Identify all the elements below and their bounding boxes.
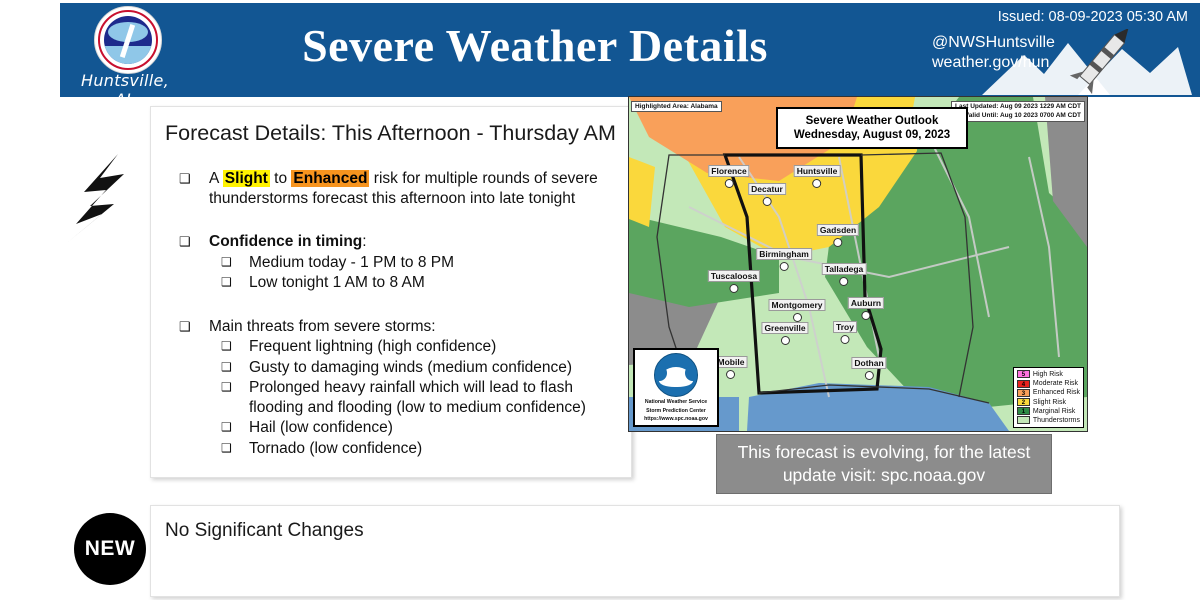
map-title-box: Severe Weather Outlook Wednesday, August…: [776, 107, 968, 149]
bullet-marker-icon: ❑: [165, 358, 249, 378]
bullet-marker-icon: ❑: [165, 273, 249, 293]
list-item: ❑ Gusty to damaging winds (medium confid…: [165, 358, 621, 378]
changes-panel: No Significant Changes: [150, 505, 1120, 597]
nws-logo: Huntsville, AL: [70, 5, 180, 97]
lightning-bolt-icon: [62, 152, 132, 244]
confidence-colon: :: [362, 233, 366, 250]
risk-legend: 5High Risk4Moderate Risk3Enhanced Risk2S…: [1013, 367, 1084, 428]
list-item: ❑ Tornado (low confidence): [165, 439, 621, 459]
list-item: ❑ Prolonged heavy rainfall which will le…: [165, 378, 621, 417]
city-name: Birmingham: [756, 248, 812, 260]
city-name: Auburn: [848, 297, 884, 309]
page-title: Severe Weather Details: [210, 19, 860, 72]
list-item: ❑ Low tonight 1 AM to 8 AM: [165, 273, 621, 293]
city-name: Troy: [833, 321, 857, 333]
legend-row: 5High Risk: [1017, 370, 1080, 379]
city-marker-icon: [763, 197, 772, 206]
map-caption: This forecast is evolving, for the lates…: [716, 434, 1052, 494]
bullet-marker-icon: ❑: [165, 169, 209, 208]
city-name: Dothan: [851, 357, 886, 369]
confidence-item: Medium today - 1 PM to 8 PM: [249, 253, 454, 273]
office-city-label: Huntsville, AL: [70, 71, 180, 109]
risk-pre: A: [209, 170, 223, 187]
city-marker-icon: [865, 371, 874, 380]
city-marker-icon: [840, 335, 849, 344]
list-item: ❑ Hail (low confidence): [165, 418, 621, 438]
legend-label: Enhanced Risk: [1033, 389, 1080, 396]
city-label: Huntsville: [794, 165, 841, 177]
city-name: Tuscaloosa: [708, 270, 760, 282]
city-name: Talladega: [822, 263, 867, 275]
threats-heading: Main threats from severe storms:: [209, 317, 436, 337]
threat-item: Hail (low confidence): [249, 418, 393, 438]
city-label: Birmingham: [756, 248, 812, 260]
city-marker-icon: [839, 277, 848, 286]
legend-color-chip: 5: [1017, 370, 1030, 378]
map-title-line2: Wednesday, August 09, 2023: [782, 128, 962, 142]
city-name: Florence: [708, 165, 749, 177]
risk-mid: to: [270, 170, 292, 187]
legend-label: High Risk: [1033, 371, 1063, 378]
city-marker-icon: [780, 336, 789, 345]
risk-line: A Slight to Enhanced risk for multiple r…: [209, 169, 621, 208]
page-header: Huntsville, AL Severe Weather Details Is…: [60, 3, 1200, 97]
noaa-spc-logo: National Weather Service Storm Predictio…: [633, 348, 719, 427]
new-badge: NEW: [74, 513, 146, 585]
city-marker-icon: [725, 179, 734, 188]
legend-label: Marginal Risk: [1033, 408, 1075, 415]
social-handle: @NWSHuntsville: [932, 33, 1055, 53]
contact-block: @NWSHuntsville weather.gov/hun: [932, 33, 1055, 73]
legend-row: 1Marginal Risk: [1017, 407, 1080, 416]
city-label: Decatur: [748, 183, 786, 195]
city-label: Montgomery: [769, 299, 826, 311]
city-label: Tuscaloosa: [708, 270, 760, 282]
bullet-marker-icon: ❑: [165, 317, 209, 337]
legend-color-chip: [1017, 416, 1030, 424]
legend-color-chip: 3: [1017, 389, 1030, 397]
threat-item: Gusty to damaging winds (medium confiden…: [249, 358, 572, 378]
website-url: weather.gov/hun: [932, 53, 1055, 73]
confidence-heading: Confidence in timing: [209, 233, 362, 250]
legend-label: Thunderstorms: [1033, 417, 1080, 424]
legend-row: 3Enhanced Risk: [1017, 388, 1080, 397]
city-label: Gadsden: [817, 224, 859, 236]
city-marker-icon: [726, 370, 735, 379]
severe-weather-outlook-map[interactable]: Highlighted Area: Alabama Last Updated: …: [628, 96, 1088, 432]
city-label: Dothan: [851, 357, 886, 369]
bullet-marker-icon: ❑: [165, 337, 249, 357]
threat-item: Frequent lightning (high confidence): [249, 337, 496, 357]
changes-text: No Significant Changes: [165, 520, 364, 542]
slight-highlight: Slight: [223, 170, 270, 187]
bullet-threats: ❑ Main threats from severe storms:: [165, 317, 621, 337]
legend-row: 2Slight Risk: [1017, 397, 1080, 406]
city-name: Mobile: [715, 356, 748, 368]
bullet-marker-icon: ❑: [165, 378, 249, 417]
legend-label: Moderate Risk: [1033, 380, 1078, 387]
legend-color-chip: 1: [1017, 407, 1030, 415]
bullet-risk: ❑ A Slight to Enhanced risk for multiple…: [165, 169, 621, 208]
threat-item: Prolonged heavy rainfall which will lead…: [249, 378, 621, 417]
bullet-marker-icon: ❑: [165, 439, 249, 459]
list-item: ❑ Medium today - 1 PM to 8 PM: [165, 253, 621, 273]
city-label: Talladega: [822, 263, 867, 275]
city-marker-icon: [780, 262, 789, 271]
city-label: Troy: [833, 321, 857, 333]
threat-item: Tornado (low confidence): [249, 439, 422, 459]
city-marker-icon: [793, 313, 802, 322]
confidence-item: Low tonight 1 AM to 8 AM: [249, 273, 425, 293]
city-label: Mobile: [715, 356, 748, 368]
issued-timestamp: Issued: 08-09-2023 05:30 AM: [998, 9, 1188, 25]
city-label: Auburn: [848, 297, 884, 309]
city-label: Greenville: [761, 322, 808, 334]
city-name: Greenville: [761, 322, 808, 334]
noaa-caption-1: National Weather Service: [637, 399, 715, 406]
city-label: Florence: [708, 165, 749, 177]
bullet-marker-icon: ❑: [165, 232, 209, 252]
list-item: ❑ Frequent lightning (high confidence): [165, 337, 621, 357]
city-name: Decatur: [748, 183, 786, 195]
nws-seal-icon: [94, 6, 162, 74]
city-marker-icon: [862, 311, 871, 320]
bullet-confidence: ❑ Confidence in timing:: [165, 232, 621, 252]
legend-color-chip: 4: [1017, 380, 1030, 388]
map-title-line1: Severe Weather Outlook: [782, 114, 962, 128]
noaa-caption-3: https://www.spc.noaa.gov: [637, 416, 715, 423]
city-marker-icon: [834, 238, 843, 247]
legend-row: Thunderstorms: [1017, 416, 1080, 425]
forecast-bullet-list: ❑ A Slight to Enhanced risk for multiple…: [165, 159, 621, 458]
enhanced-highlight: Enhanced: [291, 170, 369, 187]
forecast-title: Forecast Details: This Afternoon - Thurs…: [165, 121, 616, 146]
city-name: Huntsville: [794, 165, 841, 177]
legend-label: Slight Risk: [1033, 399, 1066, 406]
city-marker-icon: [729, 284, 738, 293]
legend-color-chip: 2: [1017, 398, 1030, 406]
forecast-details-panel: Forecast Details: This Afternoon - Thurs…: [150, 106, 632, 478]
highlighted-area-label: Highlighted Area: Alabama: [631, 101, 722, 112]
noaa-seal-icon: [654, 353, 698, 397]
valid-until: Valid Until: Aug 10 2023 0700 AM CDT: [955, 112, 1081, 121]
legend-row: 4Moderate Risk: [1017, 379, 1080, 388]
map-timestamps: Last Updated: Aug 09 2023 1229 AM CDT Va…: [951, 101, 1085, 122]
city-marker-icon: [813, 179, 822, 188]
city-name: Gadsden: [817, 224, 859, 236]
bullet-marker-icon: ❑: [165, 418, 249, 438]
last-updated: Last Updated: Aug 09 2023 1229 AM CDT: [955, 103, 1081, 112]
bullet-marker-icon: ❑: [165, 253, 249, 273]
city-name: Montgomery: [769, 299, 826, 311]
noaa-caption-2: Storm Prediction Center: [637, 408, 715, 415]
